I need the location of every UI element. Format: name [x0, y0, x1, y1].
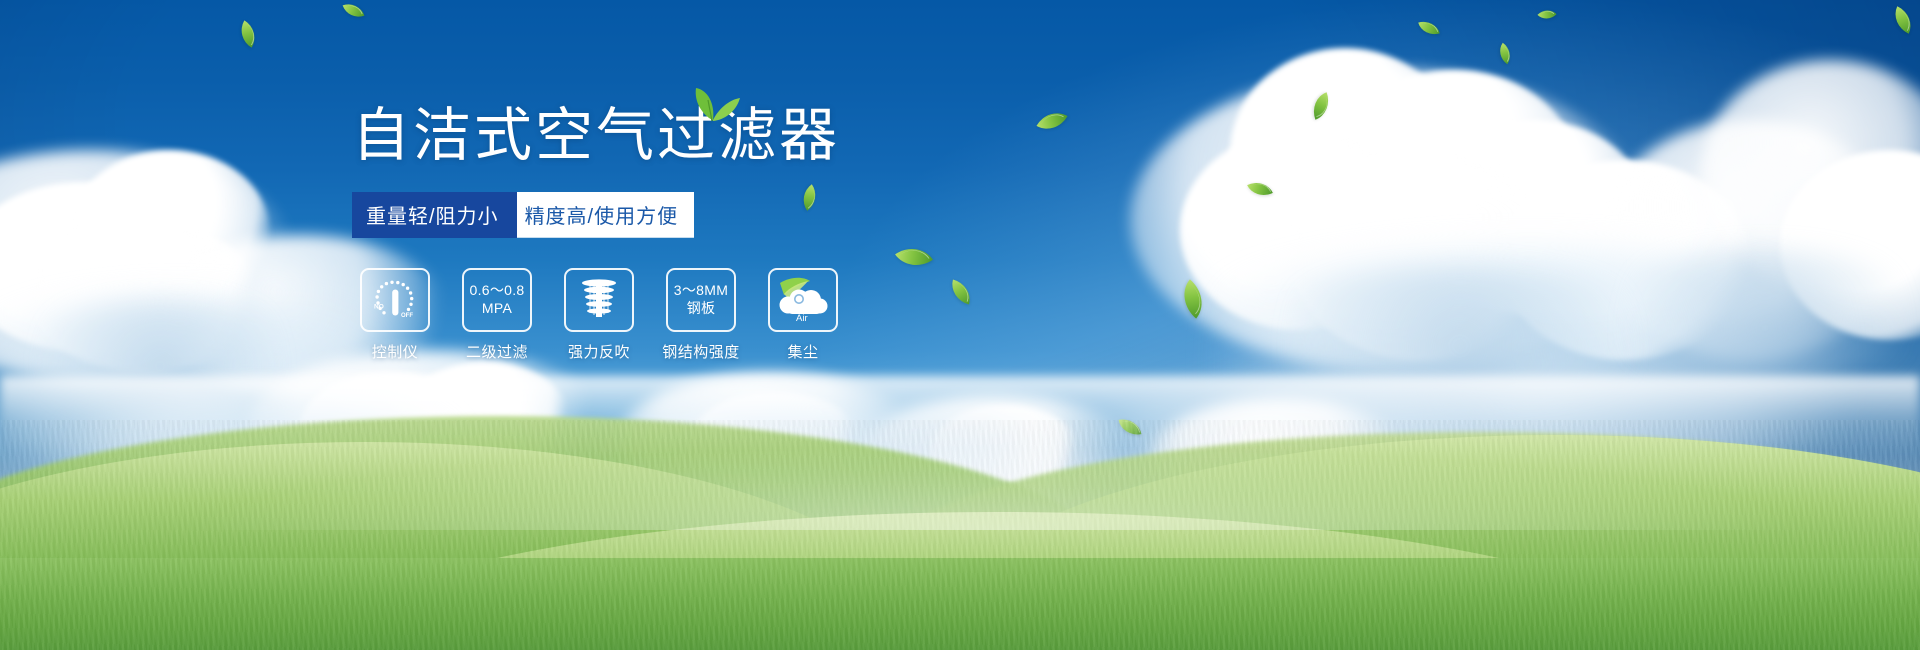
feature-item-two-stage-filter[interactable]: 0.6～0.8 MPA 二级过滤: [454, 268, 540, 362]
gauge-label-on: NO: [374, 303, 384, 310]
leaf-icon: [1308, 92, 1334, 120]
leaf-icon: [895, 238, 933, 275]
tag-group: 重量轻/阻力小 精度高/使用方便: [352, 192, 672, 238]
pressure-value-line1: 0.6～0.8: [469, 282, 524, 300]
air-label: Air: [796, 313, 808, 324]
gauge-dial-icon: NO OFF: [367, 275, 423, 325]
leaf-icon: [948, 279, 974, 304]
gauge-label-off: OFF: [401, 313, 413, 319]
hero-content: 自洁式空气过滤器 重量轻/阻力小 精度高/使用方便: [352, 104, 846, 362]
leaf-icon: [343, 0, 365, 21]
feature-icon-box: NO OFF: [360, 268, 430, 332]
grass-field: [0, 350, 1920, 650]
feature-item-dust-collection[interactable]: Air 集尘: [760, 268, 846, 362]
tag-primary[interactable]: 重量轻/阻力小: [352, 192, 517, 238]
feature-icon-box: 3～8MM 钢板: [666, 268, 736, 332]
feature-label-dust-collection: 集尘: [760, 341, 846, 362]
steel-value-line2: 钢板: [674, 300, 728, 318]
feature-item-controller[interactable]: NO OFF 控制仪: [352, 268, 438, 362]
feature-icon-box: 0.6～0.8 MPA: [462, 268, 532, 332]
pressure-value-icon: 0.6～0.8 MPA: [467, 282, 526, 317]
feature-icon-box: Air: [768, 268, 838, 332]
leaf-icon: [1247, 177, 1273, 202]
leaf-icon: [1537, 5, 1556, 24]
leaf-icon: [1889, 6, 1917, 33]
feature-label-controller: 控制仪: [352, 341, 438, 362]
feature-item-strong-backblow[interactable]: 强力反吹: [556, 268, 642, 362]
steel-value-line1: 3～8MM: [674, 282, 728, 300]
page-title: 自洁式空气过滤器: [352, 104, 846, 168]
feature-label-steel-strength: 钢结构强度: [658, 341, 744, 362]
leaf-icon: [1036, 105, 1067, 137]
grass-highlight: [0, 410, 1920, 530]
air-cloud-icon: Air: [774, 275, 832, 325]
pressure-value-line2: MPA: [469, 300, 524, 318]
feature-label-two-stage-filter: 二级过滤: [454, 341, 540, 362]
title-leaf-accent: [682, 80, 742, 122]
feature-item-steel-strength[interactable]: 3～8MM 钢板 钢结构强度: [658, 268, 744, 362]
steel-plate-value-icon: 3～8MM 钢板: [672, 282, 730, 317]
banner-hero: 自洁式空气过滤器 重量轻/阻力小 精度高/使用方便: [0, 0, 1920, 650]
feature-label-strong-backblow: 强力反吹: [556, 341, 642, 362]
feature-list: NO OFF 控制仪 0.6～0.8 MPA 二级过滤: [352, 268, 846, 362]
tag-secondary[interactable]: 精度高/使用方便: [499, 192, 695, 238]
feature-icon-box: [564, 268, 634, 332]
leaf-icon: [1173, 279, 1213, 318]
leaf-pair-icon: [682, 80, 742, 122]
leaf-icon: [234, 20, 261, 47]
filter-cartridge-icon: [575, 276, 623, 324]
leaf-icon: [1418, 18, 1440, 38]
leaf-icon: [1494, 43, 1516, 64]
